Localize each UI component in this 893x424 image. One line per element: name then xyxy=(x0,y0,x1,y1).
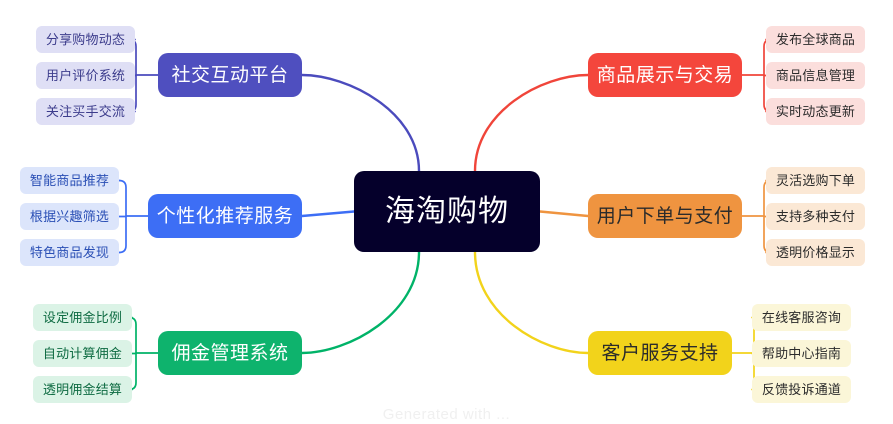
central-node-label: 海淘购物 xyxy=(385,197,509,227)
branch-node-social[interactable]: 社交互动平台 xyxy=(158,53,302,97)
leaf-node-recommend-0-label: 智能商品推荐 xyxy=(30,174,109,187)
branch-node-support[interactable]: 客户服务支持 xyxy=(588,331,732,375)
leaf-node-social-1[interactable]: 用户评价系统 xyxy=(36,62,135,89)
leaf-node-social-2[interactable]: 关注买手交流 xyxy=(36,98,135,125)
leaf-node-order-1-label: 支持多种支付 xyxy=(776,210,855,223)
branch-node-recommend[interactable]: 个性化推荐服务 xyxy=(148,194,302,238)
branch-node-social-label: 社交互动平台 xyxy=(171,66,288,85)
leaf-node-recommend-1-label: 根据兴趣筛选 xyxy=(30,210,109,223)
watermark-text: Generated with ... xyxy=(0,406,893,423)
branch-node-commission[interactable]: 佣金管理系统 xyxy=(158,331,302,375)
branch-node-order[interactable]: 用户下单与支付 xyxy=(588,194,742,238)
branch-node-goods-label: 商品展示与交易 xyxy=(597,66,734,85)
leaf-node-order-2-label: 透明价格显示 xyxy=(776,246,855,259)
leaf-node-order-0[interactable]: 灵活选购下单 xyxy=(766,167,865,194)
leaf-node-commission-2[interactable]: 透明佣金结算 xyxy=(33,376,132,403)
mindmap-canvas: 分享购物动态用户评价系统关注买手交流社交互动平台智能商品推荐根据兴趣筛选特色商品… xyxy=(0,0,893,424)
leaf-node-commission-1-label: 自动计算佣金 xyxy=(43,347,122,360)
leaf-node-social-2-label: 关注买手交流 xyxy=(46,105,125,118)
leaf-node-order-1[interactable]: 支持多种支付 xyxy=(766,203,865,230)
leaf-node-support-1-label: 帮助中心指南 xyxy=(762,347,841,360)
branch-node-goods[interactable]: 商品展示与交易 xyxy=(588,53,742,97)
leaf-node-goods-2-label: 实时动态更新 xyxy=(776,105,855,118)
branch-node-commission-label: 佣金管理系统 xyxy=(171,344,288,363)
leaf-node-commission-2-label: 透明佣金结算 xyxy=(43,383,122,396)
leaf-node-goods-0[interactable]: 发布全球商品 xyxy=(766,26,865,53)
leaf-node-goods-1-label: 商品信息管理 xyxy=(776,69,855,82)
leaf-node-goods-0-label: 发布全球商品 xyxy=(776,33,855,46)
leaf-node-social-0[interactable]: 分享购物动态 xyxy=(36,26,135,53)
leaf-node-social-0-label: 分享购物动态 xyxy=(46,33,125,46)
leaf-node-order-0-label: 灵活选购下单 xyxy=(776,174,855,187)
leaf-node-goods-1[interactable]: 商品信息管理 xyxy=(766,62,865,89)
branch-node-support-label: 客户服务支持 xyxy=(601,344,718,363)
leaf-node-goods-2[interactable]: 实时动态更新 xyxy=(766,98,865,125)
leaf-node-commission-0[interactable]: 设定佣金比例 xyxy=(33,304,132,331)
leaf-node-order-2[interactable]: 透明价格显示 xyxy=(766,239,865,266)
leaf-node-commission-1[interactable]: 自动计算佣金 xyxy=(33,340,132,367)
leaf-node-support-1[interactable]: 帮助中心指南 xyxy=(752,340,851,367)
leaf-node-support-0[interactable]: 在线客服咨询 xyxy=(752,304,851,331)
leaf-node-recommend-2-label: 特色商品发现 xyxy=(30,246,109,259)
leaf-node-commission-0-label: 设定佣金比例 xyxy=(43,311,122,324)
branch-node-order-label: 用户下单与支付 xyxy=(597,207,734,226)
leaf-node-recommend-0[interactable]: 智能商品推荐 xyxy=(20,167,119,194)
branch-node-recommend-label: 个性化推荐服务 xyxy=(157,207,294,226)
leaf-node-recommend-2[interactable]: 特色商品发现 xyxy=(20,239,119,266)
leaf-node-social-1-label: 用户评价系统 xyxy=(46,69,125,82)
leaf-node-recommend-1[interactable]: 根据兴趣筛选 xyxy=(20,203,119,230)
leaf-node-support-0-label: 在线客服咨询 xyxy=(762,311,841,324)
leaf-node-support-2[interactable]: 反馈投诉通道 xyxy=(752,376,851,403)
leaf-node-support-2-label: 反馈投诉通道 xyxy=(762,383,841,396)
central-node[interactable]: 海淘购物 xyxy=(354,171,540,252)
